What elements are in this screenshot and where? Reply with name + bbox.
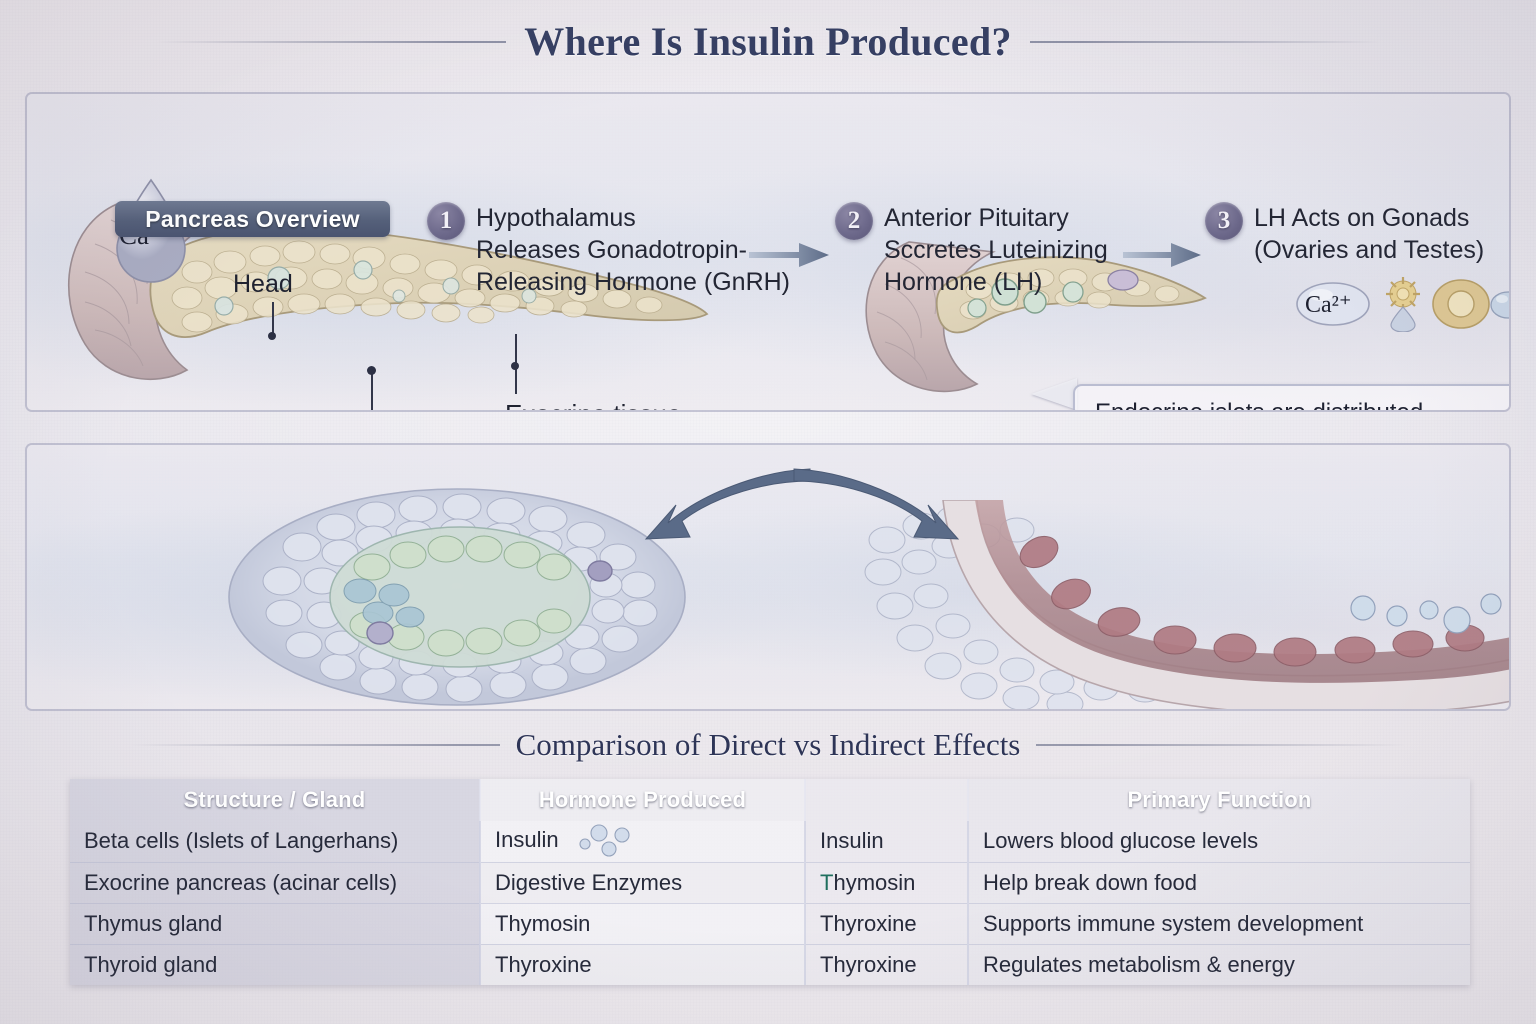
step-3-text: LH Acts on Gonads (Ovaries and Testes) [1254, 202, 1484, 266]
step-3: 3 LH Acts on Gonads (Ovaries and Testes) [1205, 202, 1484, 266]
islet-arrow-right [792, 465, 962, 550]
step-1-line3: Releasing Hormone (GnRH) [476, 266, 790, 298]
step-2-line2: Sccretes Luteinizing [884, 234, 1108, 266]
cell-extra-2-text: hymosin [833, 870, 915, 895]
cell-function-1: Lowers blood glucose levels [968, 821, 1470, 862]
page-title: Where Is Insulin Produced? [524, 18, 1012, 65]
cell-extra-1: Insulin [805, 821, 968, 862]
islet-arrow-left [642, 465, 812, 550]
step-2-badge: 2 [835, 202, 873, 240]
head-leader-dot [268, 332, 276, 340]
comparison-section-header: Comparison of Direct vs Indirect Effects [0, 727, 1536, 763]
pancreas-overview-panel: Ca²⁺ Pancreas Overview [25, 92, 1511, 412]
cell-hormone-3: Thymosin [480, 903, 805, 944]
cell-extra-4: Thyroxine [805, 944, 968, 985]
head-leader-line [272, 302, 274, 334]
cell-hormone-1-text: Insulin [495, 827, 559, 852]
table-row: Beta cells (Islets of Langerhans) Insuli… [70, 821, 1470, 862]
exocrine-tissue-label-top: Exocrine tissue [505, 399, 681, 412]
title-rule-right [1030, 41, 1380, 43]
step-3-line1: LH Acts on Gonads [1254, 202, 1484, 234]
exocrine-leader-dot [511, 362, 519, 370]
islet-of-langerhans-panel: α β β Ca²⁺ Insulin [25, 443, 1511, 711]
section-rule-right [1036, 744, 1406, 746]
callout-line1: Endocrine islets are distributed [1095, 397, 1501, 412]
title-row: Where Is Insulin Produced? [0, 18, 1536, 65]
cell-hormone-1: Insulin [480, 821, 805, 862]
step-2-text: Anterior Pituitary Sccretes Luteinizing … [884, 202, 1108, 298]
header-structure-gland: Structure / Gland [70, 779, 480, 821]
header-blank [805, 779, 968, 821]
step-1-line1: Hypothalamus [476, 202, 790, 234]
sunburst-cell-icon [1379, 274, 1427, 332]
islet-illustration [222, 485, 692, 710]
cell-hormone-4: Thyroxine [480, 944, 805, 985]
cell-function-2: Help break down food [968, 862, 1470, 903]
header-primary-function: Primary Function [968, 779, 1470, 821]
cell-structure-3: Thymus gland [70, 903, 480, 944]
insulin-vesicles-icon [575, 824, 645, 858]
vesicle-icon [1489, 290, 1511, 320]
table-row: Exocrine pancreas (acinar cells) Digesti… [70, 862, 1470, 903]
step-2-line1: Anterior Pituitary [884, 202, 1108, 234]
pancreas-overview-chip: Pancreas Overview [115, 201, 390, 237]
cell-hormone-2: Digestive Enzymes [480, 862, 805, 903]
cell-structure-1: Beta cells (Islets of Langerhans) [70, 821, 480, 862]
cell-function-4: Regulates metabolism & energy [968, 944, 1470, 985]
islets-leader-dot [367, 366, 376, 375]
step-2: 2 Anterior Pituitary Sccretes Luteinizin… [835, 202, 1108, 298]
ovum-icon [1431, 278, 1491, 330]
delta-cell-marker [367, 622, 393, 644]
title-rule-left [156, 41, 506, 43]
step-1-badge: 1 [427, 202, 465, 240]
flow-arrow-2-to-3 [1123, 240, 1201, 270]
flow-arrow-1-to-2 [749, 240, 829, 270]
head-label: Head [233, 270, 293, 299]
cell-structure-4: Thyroid gland [70, 944, 480, 985]
cell-extra-2: Thymosin [805, 862, 968, 903]
calcium-ion-label: Ca²⁺ [1305, 290, 1352, 319]
step-1-text: Hypothalamus Releases Gonadotropin- Rele… [476, 202, 790, 298]
table-row: Thymus gland Thymosin Thyroxine Supports… [70, 903, 1470, 944]
callout-tail-icon [1031, 378, 1077, 410]
table-row: Thyroid gland Thyroxine Thyroxine Regula… [70, 944, 1470, 985]
comparison-table: Structure / Gland Hormone Produced Prima… [70, 779, 1470, 985]
section-rule-left [130, 744, 500, 746]
cell-function-3: Supports immune system development [968, 903, 1470, 944]
header-hormone-produced: Hormone Produced [480, 779, 805, 821]
step-1: 1 Hypothalamus Releases Gonadotropin- Re… [427, 202, 790, 298]
cell-extra-3: Thyroxine [805, 903, 968, 944]
endocrine-islets-callout: Endocrine islets are distributed through… [1073, 384, 1511, 412]
comparison-section-title: Comparison of Direct vs Indirect Effects [516, 727, 1021, 763]
step-3-badge: 3 [1205, 202, 1243, 240]
cell-structure-2: Exocrine pancreas (acinar cells) [70, 862, 480, 903]
table-header-row: Structure / Gland Hormone Produced Prima… [70, 779, 1470, 821]
step-1-line2: Releases Gonadotropin- [476, 234, 790, 266]
step-2-line3: Hormone (LH) [884, 266, 1108, 298]
islets-leader-line [371, 370, 373, 412]
step-3-line2: (Ovaries and Testes) [1254, 234, 1484, 266]
